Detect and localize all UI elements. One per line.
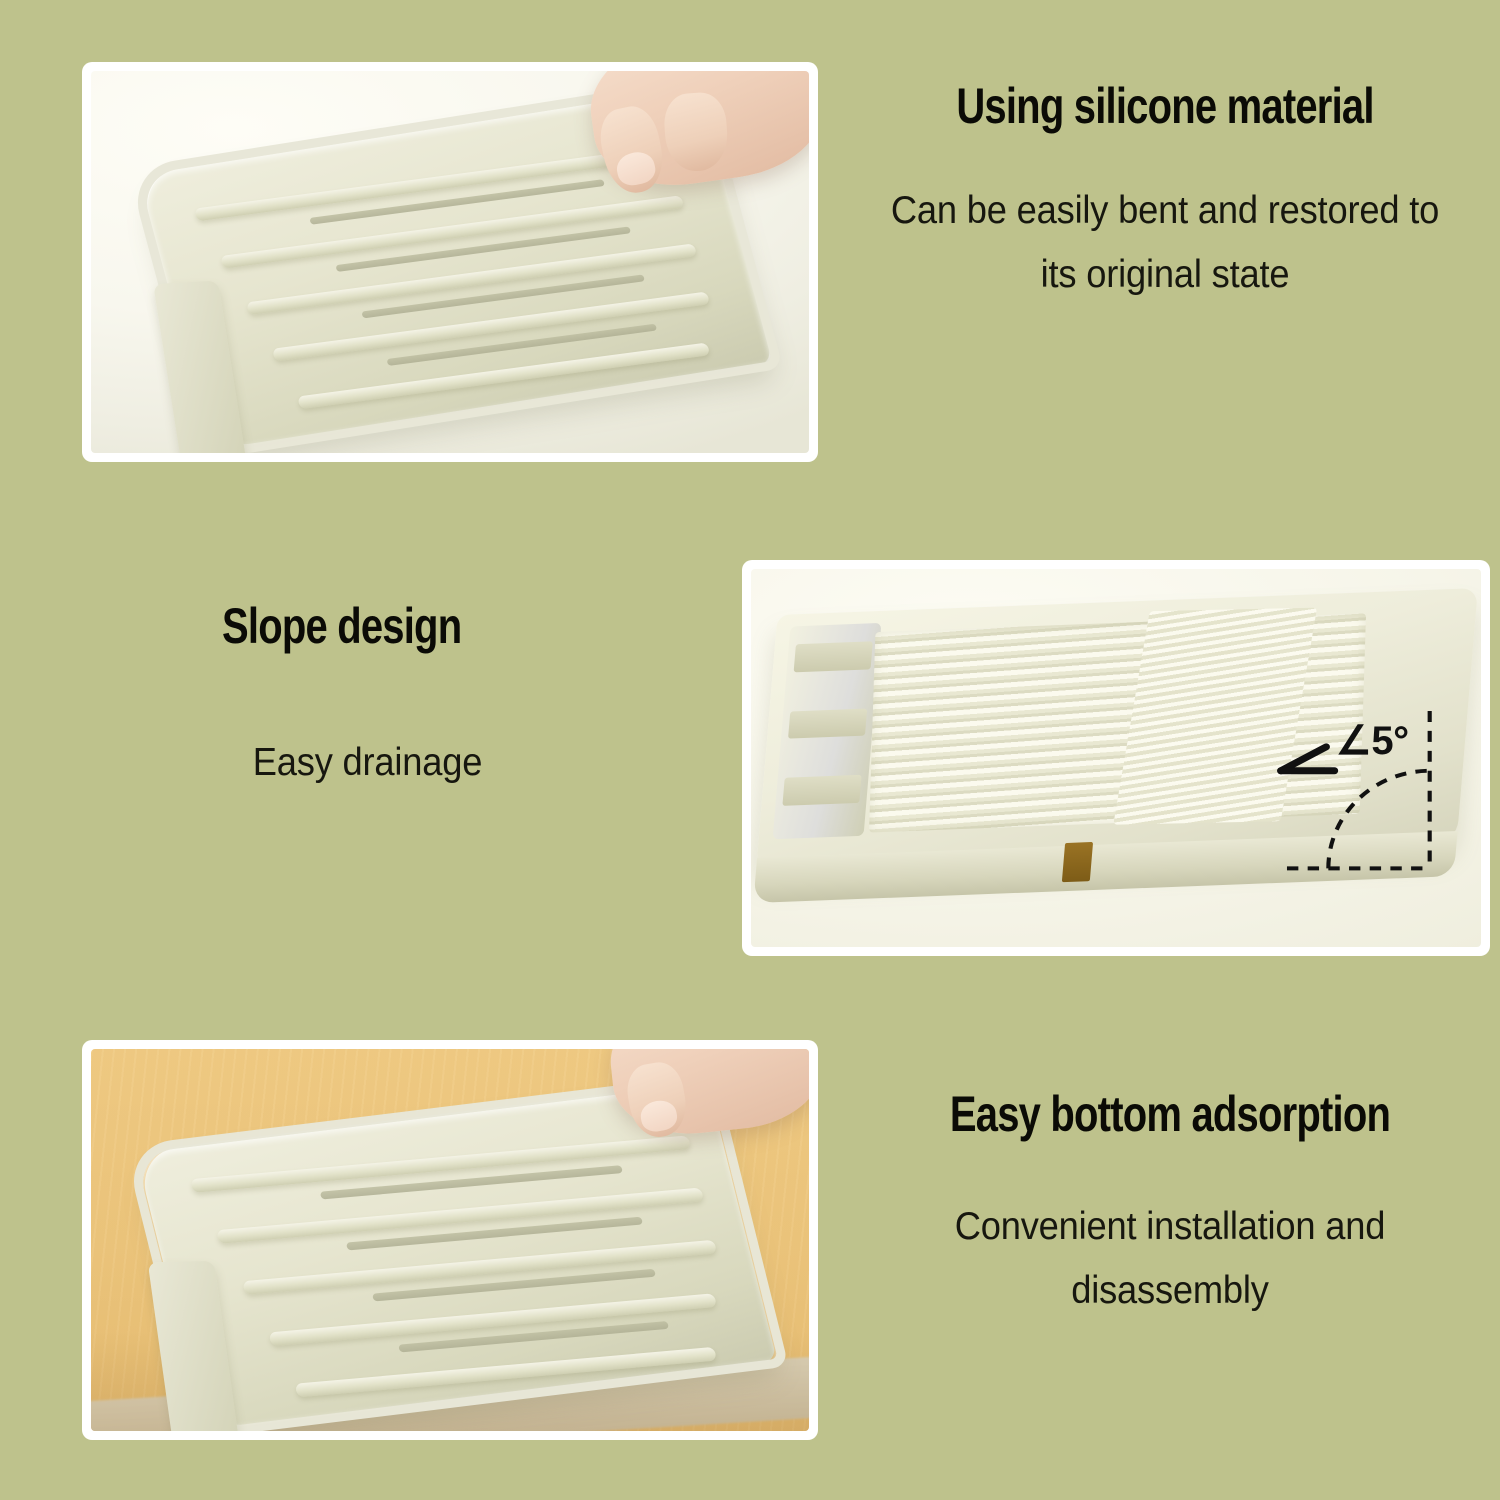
headline-easy-bottom-adsorption: Easy bottom adsorption — [922, 1088, 1418, 1141]
fingernail — [614, 149, 658, 188]
angle-glyph-stroke — [1281, 747, 1327, 771]
description-line-1: Can be easily bent and restored to — [844, 179, 1486, 243]
description-line-2: disassembly — [882, 1259, 1459, 1323]
angle-callout-label: ∠5° — [1336, 718, 1409, 764]
feature-text-silicone-material: Using silicone material Can be easily be… — [820, 80, 1500, 307]
board-gap-shadow — [1062, 842, 1093, 883]
board-notch — [782, 775, 861, 805]
infographic-canvas: Using silicone material Can be easily be… — [0, 0, 1500, 1500]
feature-image-easy-bottom-adsorption — [82, 1040, 818, 1440]
headline-silicone-material: Using silicone material — [889, 80, 1441, 133]
board-notch — [793, 642, 872, 672]
feature-text-easy-bottom-adsorption: Easy bottom adsorption Convenient instal… — [860, 1088, 1480, 1323]
feature-image-silicone-material — [82, 62, 818, 462]
description-silicone-material: Can be easily bent and restored to its o… — [844, 179, 1486, 308]
description-easy-bottom-adsorption: Convenient installation and disassembly — [882, 1195, 1459, 1324]
board-notch — [788, 709, 867, 739]
angle-callout-5-degrees: ∠5° — [1227, 705, 1475, 924]
description-line-1: Easy drainage — [253, 731, 763, 795]
description-line-2: its original state — [844, 243, 1486, 307]
photo-inner-slope: ∠5° — [751, 569, 1481, 947]
description-slope-design: Easy drainage — [242, 731, 763, 795]
description-line-1: Convenient installation and — [882, 1195, 1459, 1259]
feature-text-slope-design: Slope design Easy drainage — [222, 600, 782, 795]
feature-image-slope-design: ∠5° — [742, 560, 1490, 956]
photo-inner-adsorption — [91, 1049, 809, 1431]
silicone-tray-illustration — [91, 71, 809, 453]
photo-inner-silicone — [91, 71, 809, 453]
headline-slope-design: Slope design — [222, 600, 670, 653]
fingernail — [638, 1098, 679, 1134]
dashed-angle-arc — [1328, 771, 1429, 869]
silicone-tray-illustration-bottom — [91, 1049, 809, 1431]
